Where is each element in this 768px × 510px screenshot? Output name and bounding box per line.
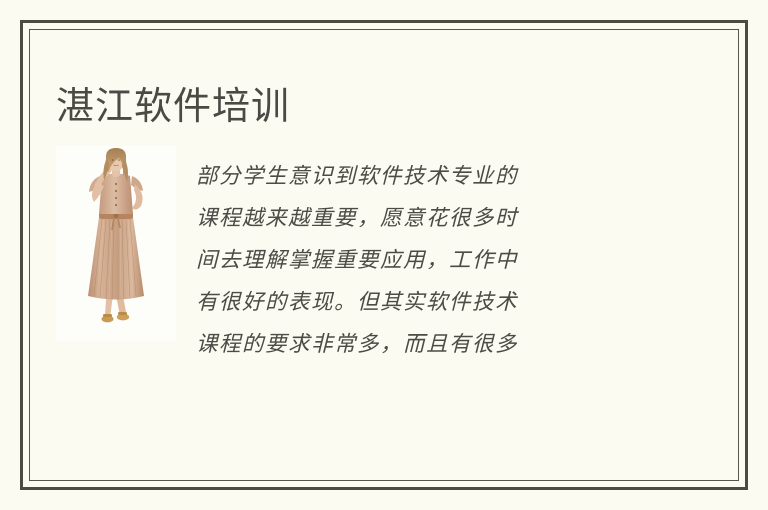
body-line: 间去理解掌握重要应用，工作中 [196,240,616,282]
body-line: 课程的要求非常多，而且有很多 [196,324,616,366]
body-line: 课程越来越重要，愿意花很多时 [196,198,616,240]
page-title: 湛江软件培训 [56,85,290,131]
article-card: 湛江软件培训 [0,0,768,510]
body-line: 部分学生意识到软件技术专业的 [196,156,616,198]
woman-photo [56,146,176,341]
content-row: 部分学生意识到软件技术专业的 课程越来越重要，愿意花很多时 间去理解掌握重要应用… [56,140,708,366]
body-paragraph: 部分学生意识到软件技术专业的 课程越来越重要，愿意花很多时 间去理解掌握重要应用… [196,156,616,366]
body-line: 有很好的表现。但其实软件技术 [196,282,616,324]
